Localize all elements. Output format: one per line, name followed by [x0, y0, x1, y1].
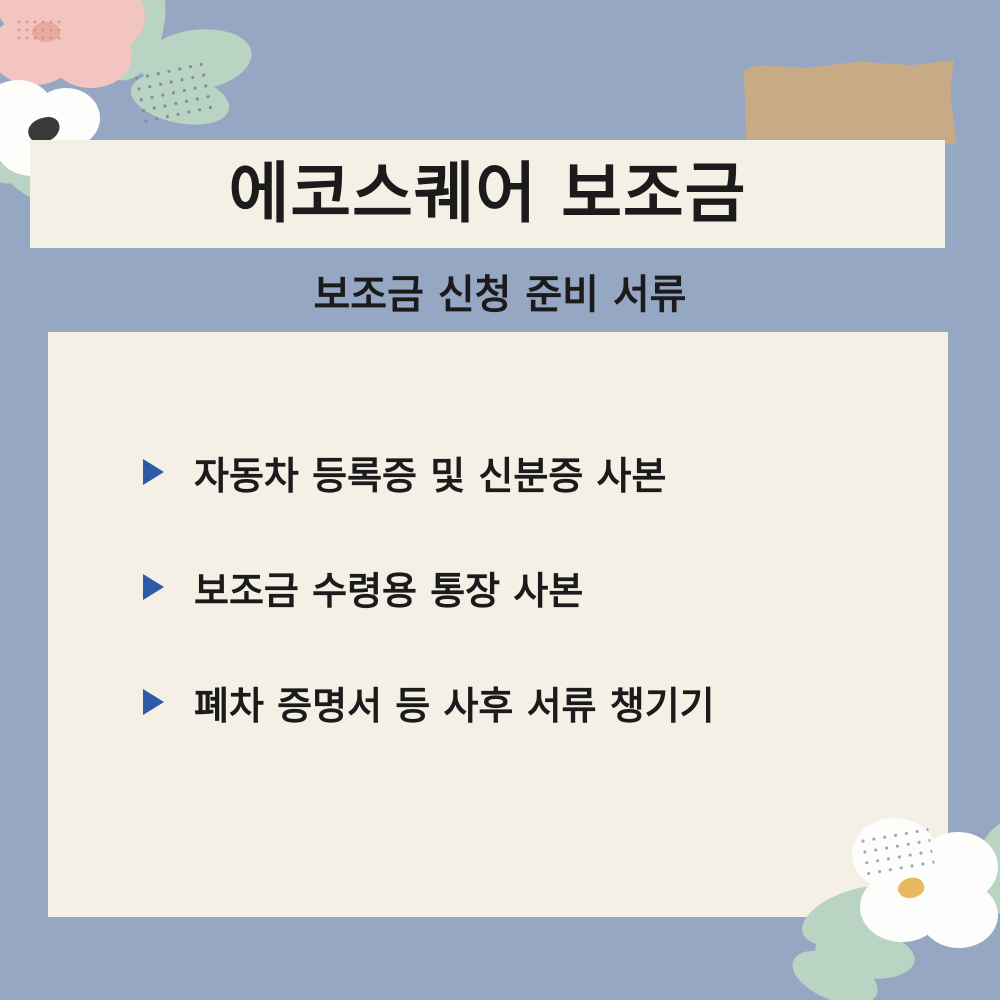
list-item-label: 자동차 등록증 및 신분증 사본	[194, 445, 666, 500]
flower-petal-icon	[920, 882, 998, 948]
flower-speckle-icon	[15, 18, 61, 44]
poster-canvas: 에코스퀘어 보조금 보조금 신청 준비 서류 자동차 등록증 및 신분증 사본 …	[0, 0, 1000, 1000]
page-subtitle: 보조금 신청 준비 서류	[0, 262, 1000, 320]
triangle-right-icon	[143, 459, 164, 485]
list-item-label: 폐차 증명서 등 사후 서류 챙기기	[194, 675, 715, 730]
list-item: 자동차 등록증 및 신분증 사본	[143, 442, 903, 502]
triangle-right-icon	[143, 574, 164, 600]
list-item: 보조금 수령용 통장 사본	[143, 557, 903, 617]
flower-petal-icon	[50, 22, 132, 88]
bullet-list: 자동차 등록증 및 신분증 사본 보조금 수령용 통장 사본 폐차 증명서 등 …	[143, 442, 903, 732]
page-title: 에코스퀘어 보조금	[229, 161, 747, 227]
list-item: 폐차 증명서 등 사후 서류 챙기기	[143, 672, 903, 732]
triangle-right-icon	[143, 689, 164, 715]
title-banner: 에코스퀘어 보조금	[30, 140, 945, 248]
decoration-bottom-right	[790, 800, 1000, 1000]
list-item-label: 보조금 수령용 통장 사본	[194, 560, 583, 615]
